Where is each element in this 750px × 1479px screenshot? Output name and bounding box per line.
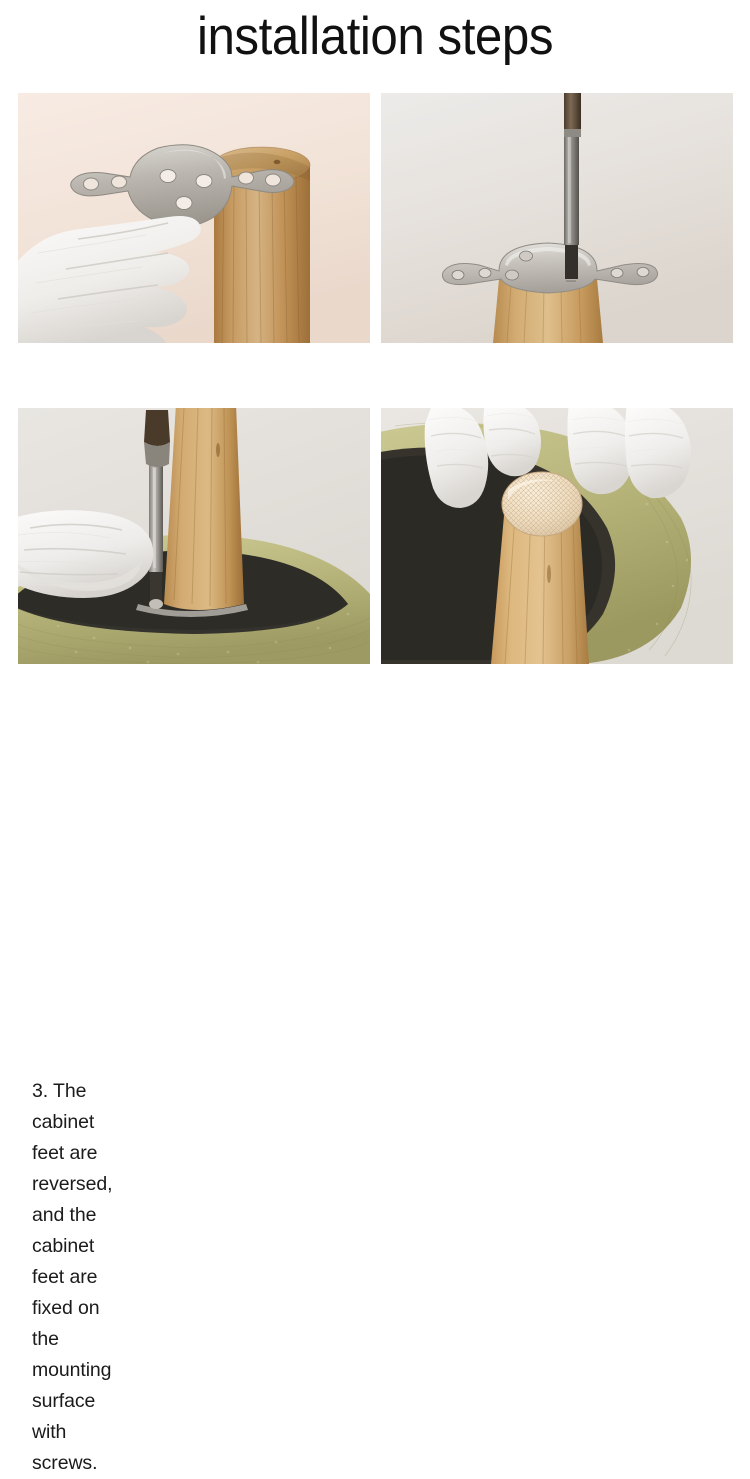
step-1-photo [18, 93, 370, 343]
step-3-caption: 3. The cabinet feet are reversed, and th… [32, 1076, 112, 1479]
step-2-photo [381, 93, 733, 343]
step-4-photo [381, 408, 733, 664]
step-3-photo [18, 408, 370, 664]
installation-steps-infographic: installation steps [0, 0, 750, 750]
page-title: installation steps [26, 6, 724, 68]
